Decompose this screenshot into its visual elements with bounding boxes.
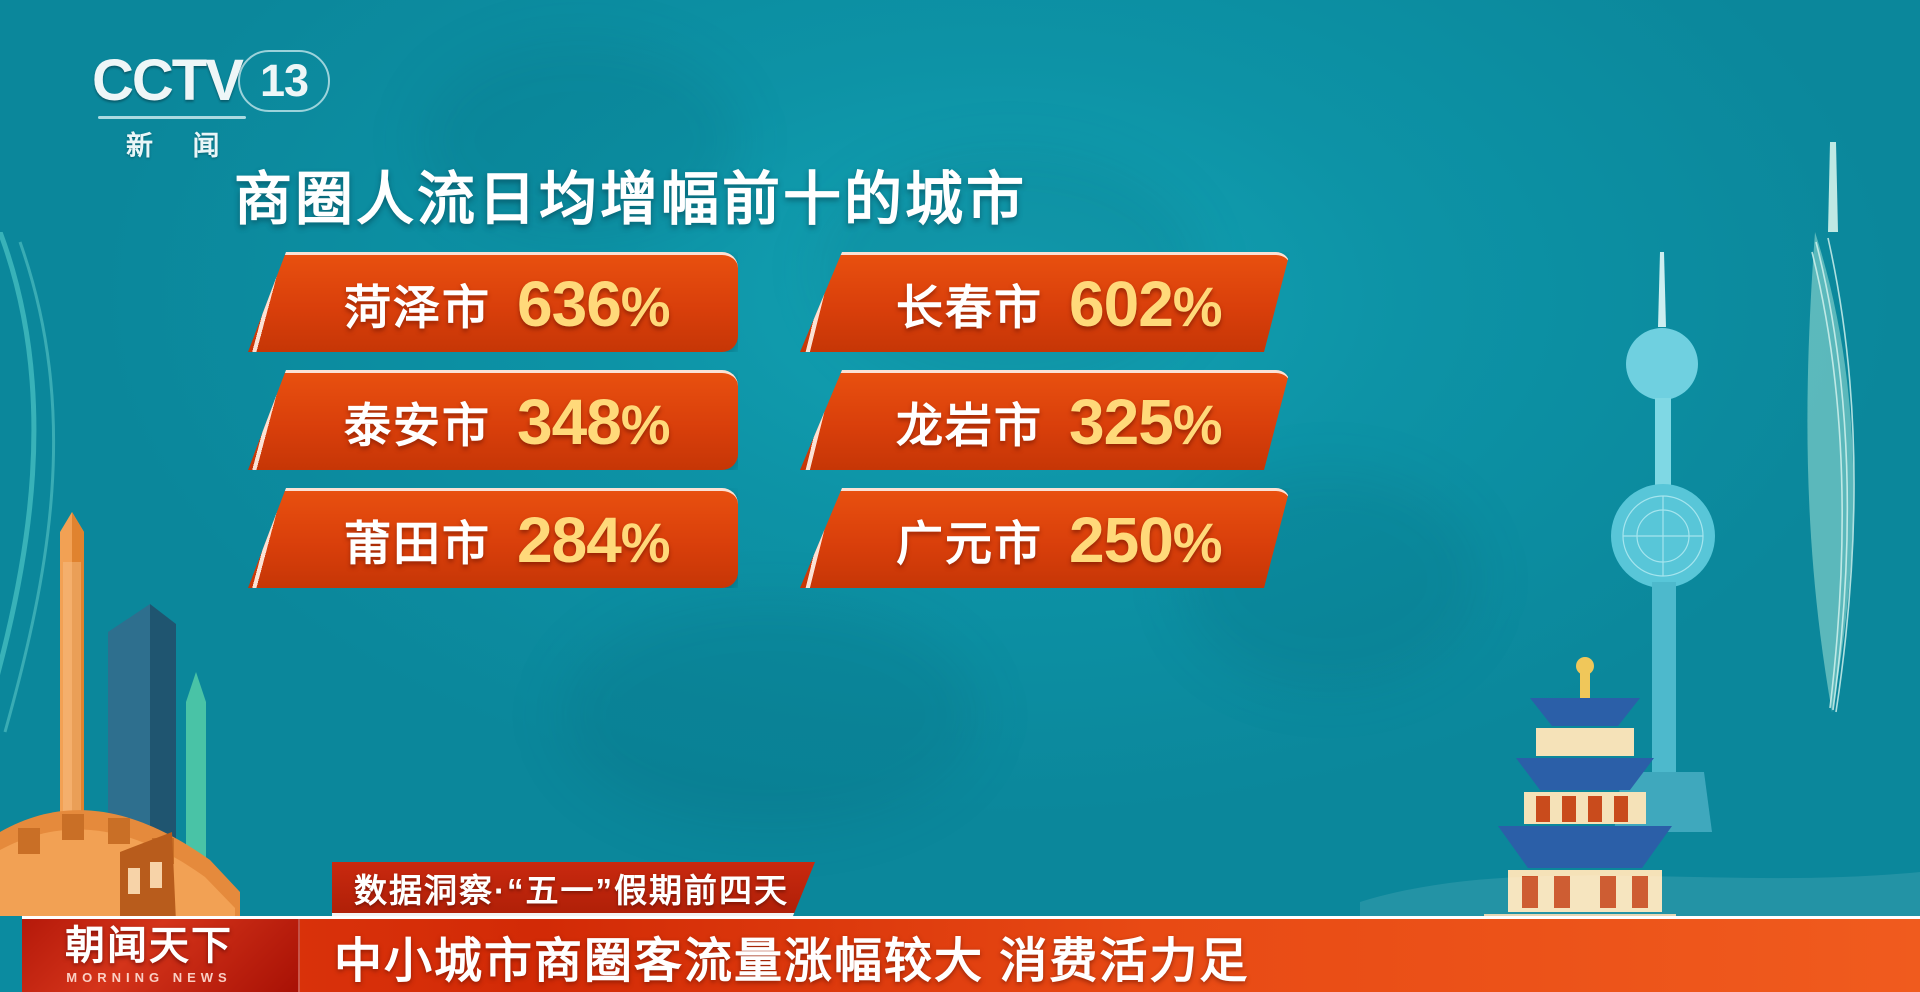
percent-sign: % — [621, 275, 670, 338]
chart-item: 泰安市 348% — [248, 370, 738, 470]
bar-莆田市: 莆田市 284% — [248, 488, 738, 588]
percent-sign: % — [621, 393, 670, 456]
broadcast-screen: CCTV 13 新 闻 商圈人流日均增幅前十的城市 菏泽市 636% 长春市 6… — [0, 0, 1920, 992]
chart-row: 莆田市 284% 广元市 250% — [248, 488, 1290, 588]
chart-item: 广元市 250% — [800, 488, 1290, 588]
kicker-banner: 数据洞察·“五一”假期前四天 — [332, 862, 815, 916]
bar-龙岩市: 龙岩市 325% — [800, 370, 1290, 470]
city-label: 泰安市 — [344, 387, 491, 456]
chart-item: 莆田市 284% — [248, 488, 738, 588]
city-label: 广元市 — [896, 505, 1043, 574]
lower-third-band: 朝闻天下 MORNING NEWS 中小城市商圈客流量涨幅较大 消费活力足 — [0, 916, 1920, 992]
chart-item: 菏泽市 636% — [248, 252, 738, 352]
percent-sign: % — [1173, 393, 1222, 456]
chart-title: 商圈人流日均增幅前十的城市 — [234, 152, 1027, 236]
program-name-en: MORNING NEWS — [66, 970, 231, 985]
value-label: 348% — [517, 390, 670, 454]
band-left-teal-tab — [0, 916, 22, 992]
kicker-text: 数据洞察·“五一”假期前四天 — [354, 864, 789, 912]
percent-sign: % — [1173, 511, 1222, 574]
channel-number-badge: 13 — [238, 50, 330, 112]
logo-underline — [98, 116, 246, 119]
value-label: 636% — [517, 272, 670, 336]
percent-sign: % — [1173, 275, 1222, 338]
value-label: 250% — [1069, 508, 1222, 572]
chart-item: 龙岩市 325% — [800, 370, 1290, 470]
right-skyline-illustration — [1360, 112, 1920, 992]
city-label: 长春市 — [896, 269, 1043, 338]
chart-row: 泰安市 348% 龙岩市 325% — [248, 370, 1290, 470]
city-label: 菏泽市 — [344, 269, 491, 338]
city-label: 莆田市 — [344, 505, 491, 574]
city-growth-chart: 菏泽市 636% 长春市 602% 泰安市 348% 龙岩市 — [248, 252, 1290, 606]
percent-sign: % — [621, 511, 670, 574]
bar-菏泽市: 菏泽市 636% — [248, 252, 738, 352]
chart-item: 长春市 602% — [800, 252, 1290, 352]
bar-泰安市: 泰安市 348% — [248, 370, 738, 470]
chart-row: 菏泽市 636% 长春市 602% — [248, 252, 1290, 352]
bar-广元市: 广元市 250% — [800, 488, 1290, 588]
bar-长春市: 长春市 602% — [800, 252, 1290, 352]
value-label: 602% — [1069, 272, 1222, 336]
value-label: 284% — [517, 508, 670, 572]
channel-logo: CCTV 13 新 闻 — [92, 52, 332, 158]
program-logo: 朝闻天下 MORNING NEWS — [0, 919, 300, 992]
bg-blotch — [560, 600, 980, 830]
news-headline: 中小城市商圈客流量涨幅较大 消费活力足 — [300, 921, 1920, 991]
program-name-zh: 朝闻天下 — [65, 926, 233, 966]
city-label: 龙岩市 — [896, 387, 1043, 456]
value-label: 325% — [1069, 390, 1222, 454]
